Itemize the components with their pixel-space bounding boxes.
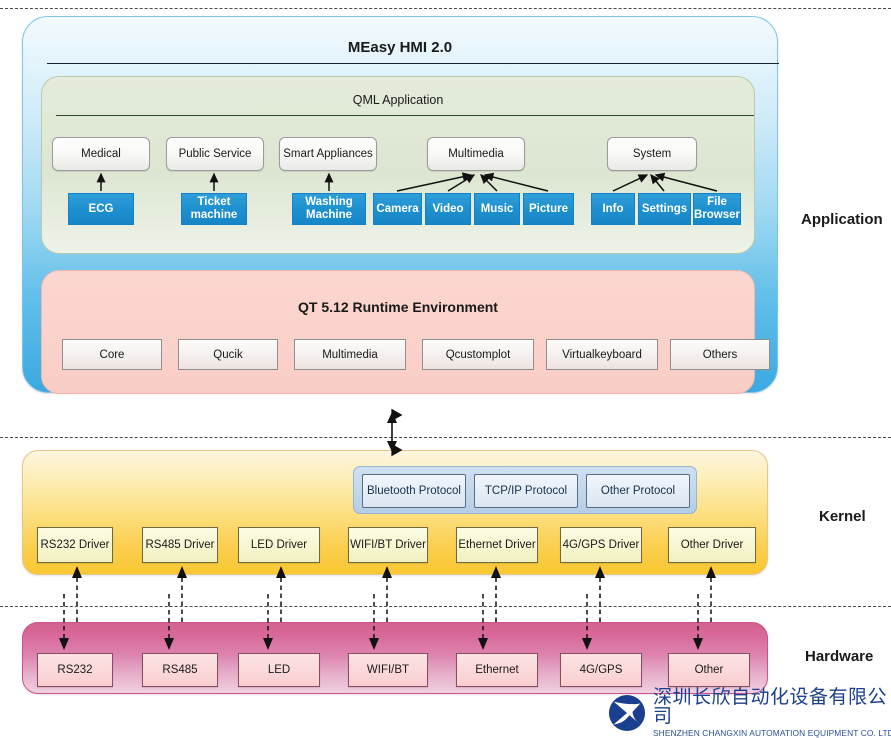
qt-module-multimedia[interactable]: Multimedia — [294, 339, 406, 370]
app-box-picture[interactable]: Picture — [523, 193, 574, 225]
qml-application-panel: QML Application Medical Public Service S… — [41, 76, 755, 254]
hardware-box-wifi-bt[interactable]: WIFI/BT — [348, 653, 428, 687]
hardware-box-rs232[interactable]: RS232 — [37, 653, 113, 687]
qt-module-qcustomplot[interactable]: Qcustomplot — [422, 339, 534, 370]
driver-box-led[interactable]: LED Driver — [238, 527, 320, 563]
kernel-layer-card: Bluetooth Protocol TCP/IP Protocol Other… — [22, 450, 768, 575]
tier-label-application: Application — [801, 211, 883, 228]
protocol-box-tcpip[interactable]: TCP/IP Protocol — [474, 474, 578, 508]
hardware-box-4g-gps[interactable]: 4G/GPS — [560, 653, 642, 687]
protocol-group: Bluetooth Protocol TCP/IP Protocol Other… — [353, 466, 697, 514]
qt-module-virtualkeyboard[interactable]: Virtualkeyboard — [546, 339, 658, 370]
application-title-rule — [47, 63, 779, 64]
protocol-box-other[interactable]: Other Protocol — [586, 474, 690, 508]
watermark-company-cn: 深圳长欣自动化设备有限公司 — [653, 688, 891, 726]
category-box-smart-appliances[interactable]: Smart Appliances — [279, 137, 377, 171]
category-box-public-service[interactable]: Public Service — [166, 137, 264, 171]
qt-runtime-title: QT 5.12 Runtime Environment — [42, 299, 754, 315]
driver-box-ethernet[interactable]: Ethernet Driver — [456, 527, 538, 563]
separator-line-hardware — [0, 606, 891, 607]
company-logo-icon — [608, 694, 646, 732]
app-box-file-browser[interactable]: File Browser — [693, 193, 741, 225]
category-box-system[interactable]: System — [607, 137, 697, 171]
watermark-company-en: SHENZHEN CHANGXIN AUTOMATION EQUIPMENT C… — [653, 729, 891, 737]
separator-line-top — [0, 8, 891, 9]
app-box-ticket-machine[interactable]: Ticket machine — [181, 193, 247, 225]
application-title: MEasy HMI 2.0 — [23, 39, 777, 56]
tier-label-kernel: Kernel — [819, 508, 866, 525]
app-box-ecg[interactable]: ECG — [68, 193, 134, 225]
qml-application-title: QML Application — [42, 93, 754, 107]
driver-box-4g-gps[interactable]: 4G/GPS Driver — [560, 527, 642, 563]
hardware-box-rs485[interactable]: RS485 — [142, 653, 218, 687]
driver-box-other[interactable]: Other Driver — [668, 527, 756, 563]
app-box-video[interactable]: Video — [425, 193, 471, 225]
hardware-box-ethernet[interactable]: Ethernet — [456, 653, 538, 687]
hardware-box-other[interactable]: Other — [668, 653, 750, 687]
app-box-music[interactable]: Music — [474, 193, 520, 225]
tier-label-hardware: Hardware — [805, 648, 873, 665]
qt-module-others[interactable]: Others — [670, 339, 770, 370]
driver-box-wifi-bt[interactable]: WIFI/BT Driver — [348, 527, 428, 563]
category-box-multimedia[interactable]: Multimedia — [427, 137, 525, 171]
driver-box-rs232[interactable]: RS232 Driver — [37, 527, 113, 563]
app-box-info[interactable]: Info — [591, 193, 635, 225]
hardware-layer-card: RS232 RS485 LED WIFI/BT Ethernet 4G/GPS … — [22, 622, 768, 694]
hardware-box-led[interactable]: LED — [238, 653, 320, 687]
protocol-box-bluetooth[interactable]: Bluetooth Protocol — [362, 474, 466, 508]
app-box-washing-machine[interactable]: Washing Machine — [292, 193, 366, 225]
qml-title-rule — [56, 115, 754, 116]
application-layer-card: MEasy HMI 2.0 QML Application Medical Pu… — [22, 16, 778, 393]
qt-runtime-panel: QT 5.12 Runtime Environment Core Qucik M… — [41, 270, 755, 394]
app-box-camera[interactable]: Camera — [373, 193, 422, 225]
qt-module-quick[interactable]: Qucik — [178, 339, 278, 370]
separator-line-kernel — [0, 437, 891, 438]
qt-module-core[interactable]: Core — [62, 339, 162, 370]
category-box-medical[interactable]: Medical — [52, 137, 150, 171]
app-box-settings[interactable]: Settings — [638, 193, 691, 225]
driver-box-rs485[interactable]: RS485 Driver — [142, 527, 218, 563]
architecture-diagram: Application Kernel Hardware MEasy HMI 2.… — [0, 0, 891, 730]
